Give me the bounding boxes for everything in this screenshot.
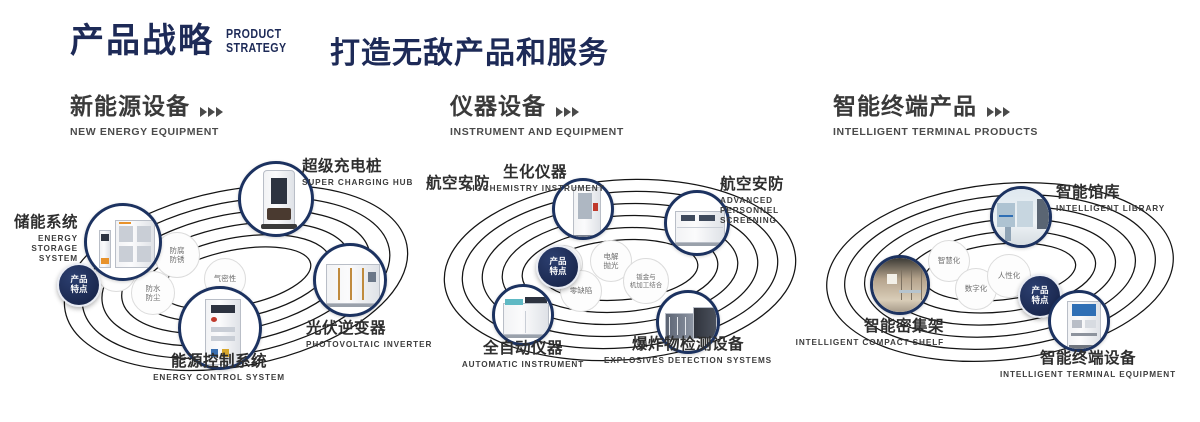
- feature-line1: 零缺陷: [570, 286, 593, 295]
- cluster-new-energy: 防腐 防锈 户外 防水 防尘 气密性 产品 特点: [40, 150, 440, 420]
- smart-library-photo: [993, 189, 1049, 245]
- page-subtitle: 打造无敌产品和服务: [330, 28, 609, 72]
- chevron-right-icon: [987, 107, 1010, 117]
- section-title-en: INTELLIGENT TERMINAL PRODUCTS: [833, 126, 1038, 138]
- node-energy-storage-system[interactable]: [84, 203, 162, 281]
- feature-line2: 防尘: [146, 293, 161, 302]
- core-line1: 产品: [1031, 286, 1048, 296]
- feature-line1: 防腐: [170, 246, 185, 255]
- screening-machine-photo: [667, 193, 727, 253]
- node-intelligent-terminal-equipment[interactable]: [1048, 290, 1110, 352]
- node-label-intelligent-library: 智能馆库 INTELLIGENT LIBRARY: [1056, 184, 1165, 214]
- node-label-energy-storage-system: 储能系统 ENERGY STORAGE SYSTEM: [0, 214, 78, 265]
- node-photovoltaic-inverter[interactable]: [313, 243, 387, 317]
- node-label-intelligent-terminal-equipment: 智能终端设备 INTELLIGENT TERMINAL EQUIPMENT: [998, 350, 1178, 380]
- node-label-en: ENERGY CONTROL SYSTEM: [128, 373, 310, 383]
- feature-line2: 机加工结合: [630, 281, 663, 289]
- section-title-cn: 智能终端产品: [833, 96, 977, 119]
- feature-line1: 人性化: [998, 271, 1021, 280]
- node-intelligent-compact-shelf[interactable]: [870, 255, 930, 315]
- section-title-new-energy: 新能源设备 NEW ENERGY EQUIPMENT: [70, 96, 223, 138]
- core-bubble-product-features: 产品 特点: [536, 245, 580, 289]
- node-label-automatic-instrument: 全自动仪器 AUTOMATIC INSTRUMENT: [433, 340, 613, 370]
- core-line1: 产品: [70, 275, 87, 285]
- cluster-instrument: 航空安防 电解 抛光 镜面 零缺陷 钣金与 机加工结合 产品 特点: [420, 150, 820, 420]
- node-automatic-instrument[interactable]: [492, 284, 554, 346]
- page-title-en: PRODUCT STRATEGY: [226, 27, 287, 54]
- node-label-en: PHOTOVOLTAIC INVERTER: [306, 340, 432, 350]
- chevron-right-icon: [556, 107, 579, 117]
- node-label-cn: 智能密集架: [788, 318, 944, 336]
- terminal-kiosk-photo: [1051, 293, 1107, 349]
- section-title-intelligent-terminal: 智能终端产品 INTELLIGENT TERMINAL PRODUCTS: [833, 96, 1038, 138]
- cluster-intelligent-terminal: 智慧化 数字化 人性化 产品 特点 智能馆库 INTELL: [800, 150, 1200, 420]
- page-title-en-line2: STRATEGY: [226, 41, 287, 55]
- core-line2: 特点: [1031, 296, 1048, 306]
- feature-line1: 数字化: [965, 284, 988, 293]
- section-title-cn: 新能源设备: [70, 96, 190, 119]
- automatic-instrument-photo: [495, 287, 551, 343]
- feature-line2: 抛光: [604, 261, 619, 270]
- feature-line1: 钣金与: [636, 273, 656, 281]
- node-label-cn: 储能系统: [0, 214, 78, 232]
- page-title: 产品战略 PRODUCT STRATEGY: [70, 24, 300, 58]
- feature-line1: 智慧化: [938, 256, 961, 265]
- node-label-en: INTELLIGENT LIBRARY: [1056, 204, 1165, 214]
- node-label-explosives-detection-systems: 爆炸物检测设备 EXPLOSIVES DETECTION SYSTEMS: [598, 336, 778, 366]
- core-line2: 特点: [549, 267, 566, 277]
- node-label-cn: 智能终端设备: [998, 350, 1178, 368]
- feature-line2: 防锈: [170, 255, 185, 264]
- section-title-cn: 仪器设备: [450, 96, 546, 119]
- node-intelligent-library[interactable]: [990, 186, 1052, 248]
- node-label-en: AUTOMATIC INSTRUMENT: [433, 360, 613, 370]
- feature-line1: 防水: [146, 284, 161, 293]
- node-label-cn: 光伏逆变器: [306, 320, 432, 338]
- node-label-cn: 生化仪器: [445, 164, 625, 182]
- node-label-en: EXPLOSIVES DETECTION SYSTEMS: [598, 356, 778, 366]
- section-title-instrument: 仪器设备 INSTRUMENT AND EQUIPMENT: [450, 96, 624, 138]
- node-label-cn: 智能馆库: [1056, 184, 1165, 202]
- compact-shelf-photo: [873, 258, 927, 312]
- feature-line1: 电解: [604, 252, 619, 261]
- chevron-right-icon: [200, 107, 223, 117]
- node-label-cn: 爆炸物检测设备: [598, 336, 778, 354]
- node-label-biochemistry-instrument: 生化仪器 BIOCHEMISTRY INSTRUMENT: [445, 164, 625, 194]
- charging-pile-photo: [241, 164, 311, 234]
- node-label-intelligent-compact-shelf: 智能密集架 INTELLIGENT COMPACT SHELF: [788, 318, 944, 348]
- node-label-cn: 能源控制系统: [128, 353, 310, 371]
- node-label-cn: 全自动仪器: [433, 340, 613, 358]
- inverter-cabinet-photo: [316, 246, 384, 314]
- section-title-en: INSTRUMENT AND EQUIPMENT: [450, 126, 624, 138]
- section-title-en: NEW ENERGY EQUIPMENT: [70, 126, 223, 138]
- node-label-cn: 超级充电桩: [302, 158, 413, 176]
- node-label-en: INTELLIGENT TERMINAL EQUIPMENT: [998, 370, 1178, 380]
- poster-canvas: 产品战略 PRODUCT STRATEGY 打造无敌产品和服务 新能源设备 NE…: [0, 0, 1200, 422]
- feature-line1: 气密性: [214, 274, 237, 283]
- core-line2: 特点: [70, 285, 87, 295]
- node-label-energy-control-system: 能源控制系统 ENERGY CONTROL SYSTEM: [128, 353, 310, 383]
- core-line1: 产品: [549, 257, 566, 267]
- node-label-en: BIOCHEMISTRY INSTRUMENT: [445, 184, 625, 194]
- node-label-en: INTELLIGENT COMPACT SHELF: [788, 338, 944, 348]
- page-title-en-line1: PRODUCT: [226, 27, 287, 41]
- node-label-photovoltaic-inverter: 光伏逆变器 PHOTOVOLTAIC INVERTER: [306, 320, 432, 350]
- page-title-cn: 产品战略: [70, 24, 214, 58]
- node-label-en: ENERGY STORAGE SYSTEM: [0, 234, 78, 265]
- battery-cabinet-photo: [87, 206, 159, 278]
